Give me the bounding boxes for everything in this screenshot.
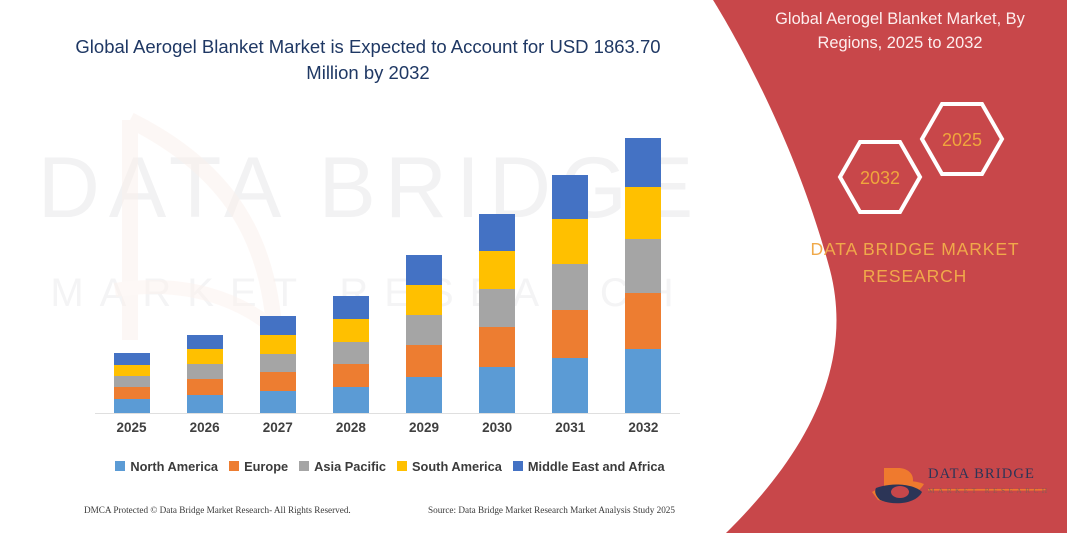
logo-name: DATA BRIDGE: [928, 466, 1035, 483]
svg-text:2032: 2032: [860, 168, 900, 188]
bar-segment-europe: [406, 345, 442, 377]
bar-2031: [552, 175, 588, 413]
legend-item-north-america[interactable]: North America: [115, 459, 218, 474]
bar-segment-asia-pacific: [333, 342, 369, 364]
legend-item-europe[interactable]: Europe: [229, 459, 288, 474]
x-tick-2027: 2027: [243, 420, 313, 435]
bar-2028: [333, 296, 369, 413]
bar-segment-south-america: [187, 349, 223, 364]
bar-segment-middle-east-and-africa: [114, 353, 150, 365]
bar-segment-europe: [625, 293, 661, 349]
hex-2032-icon: 2032: [840, 142, 920, 212]
bar-segment-middle-east-and-africa: [479, 214, 515, 251]
bar-segment-asia-pacific: [114, 376, 150, 387]
bar-segment-north-america: [187, 395, 223, 413]
bar-segment-europe: [479, 327, 515, 367]
bar-2027: [260, 316, 296, 413]
bar-2026: [187, 335, 223, 413]
legend-swatch-icon: [513, 461, 523, 471]
bar-segment-asia-pacific: [479, 289, 515, 327]
bar-segment-middle-east-and-africa: [552, 175, 588, 219]
x-tick-2028: 2028: [316, 420, 386, 435]
hex-2025-icon: 2025: [922, 104, 1002, 174]
bar-segment-south-america: [625, 187, 661, 239]
chart-title: Global Aerogel Blanket Market is Expecte…: [68, 34, 668, 87]
bar-segment-middle-east-and-africa: [406, 255, 442, 285]
legend-swatch-icon: [229, 461, 239, 471]
footer-copyright: DMCA Protected © Data Bridge Market Rese…: [84, 505, 351, 515]
chart-baseline: [95, 413, 680, 414]
panel-title: Global Aerogel Blanket Market, By Region…: [750, 8, 1050, 56]
bar-2025: [114, 353, 150, 413]
bar-segment-north-america: [552, 358, 588, 413]
bar-segment-north-america: [333, 387, 369, 413]
bar-segment-south-america: [552, 219, 588, 264]
bar-segment-asia-pacific: [552, 264, 588, 310]
x-axis-labels: 20252026202720282029203020312032: [95, 420, 680, 444]
logo-subtitle: MARKET RESEARCH: [928, 486, 1051, 495]
x-tick-2029: 2029: [389, 420, 459, 435]
legend-item-middle-east-and-africa[interactable]: Middle East and Africa: [513, 459, 665, 474]
legend-label: North America: [130, 459, 218, 474]
bar-segment-south-america: [333, 319, 369, 342]
legend-label: South America: [412, 459, 502, 474]
bar-segment-south-america: [479, 251, 515, 289]
bar-segment-south-america: [406, 285, 442, 315]
legend-swatch-icon: [115, 461, 125, 471]
chart-plot-area: [95, 110, 680, 414]
bar-2030: [479, 214, 515, 413]
legend-item-asia-pacific[interactable]: Asia Pacific: [299, 459, 386, 474]
legend-swatch-icon: [299, 461, 309, 471]
brand-line1: DATA BRIDGE MARKET: [810, 239, 1019, 259]
bar-segment-south-america: [114, 365, 150, 376]
bar-segment-middle-east-and-africa: [333, 296, 369, 319]
legend-label: Middle East and Africa: [528, 459, 665, 474]
x-tick-2031: 2031: [535, 420, 605, 435]
footer-source: Source: Data Bridge Market Research Mark…: [428, 505, 675, 515]
bar-segment-asia-pacific: [187, 364, 223, 379]
bar-segment-asia-pacific: [406, 315, 442, 345]
x-tick-2026: 2026: [170, 420, 240, 435]
bar-2029: [406, 255, 442, 413]
bar-segment-north-america: [114, 399, 150, 413]
bar-segment-middle-east-and-africa: [260, 316, 296, 335]
bar-segment-north-america: [479, 367, 515, 413]
bar-segment-europe: [114, 387, 150, 399]
bar-segment-europe: [552, 310, 588, 358]
bar-segment-middle-east-and-africa: [187, 335, 223, 349]
legend-swatch-icon: [397, 461, 407, 471]
legend-item-south-america[interactable]: South America: [397, 459, 502, 474]
x-tick-2025: 2025: [97, 420, 167, 435]
bar-segment-south-america: [260, 335, 296, 354]
bar-segment-north-america: [406, 377, 442, 413]
bar-segment-north-america: [260, 391, 296, 413]
svg-text:2025: 2025: [942, 130, 982, 150]
infographic-root: DATA BRIDGE MARKET RESEARCH Global Aerog…: [0, 0, 1067, 533]
bar-segment-middle-east-and-africa: [625, 138, 661, 187]
bar-segment-europe: [333, 364, 369, 387]
bar-2032: [625, 138, 661, 413]
bar-segment-asia-pacific: [260, 354, 296, 372]
brand-line2: RESEARCH: [863, 266, 967, 286]
brand-text: DATA BRIDGE MARKET RESEARCH: [790, 236, 1040, 290]
hexagon-group: 2025 2032: [818, 92, 1018, 224]
bar-segment-europe: [260, 372, 296, 391]
footer: DMCA Protected © Data Bridge Market Rese…: [0, 505, 720, 529]
bar-segment-asia-pacific: [625, 239, 661, 293]
bar-segment-europe: [187, 379, 223, 395]
legend-label: Asia Pacific: [314, 459, 386, 474]
legend-label: Europe: [244, 459, 288, 474]
x-tick-2030: 2030: [462, 420, 532, 435]
bar-segment-north-america: [625, 349, 661, 413]
x-tick-2032: 2032: [608, 420, 678, 435]
chart-legend: North AmericaEuropeAsia PacificSouth Ame…: [95, 455, 685, 477]
